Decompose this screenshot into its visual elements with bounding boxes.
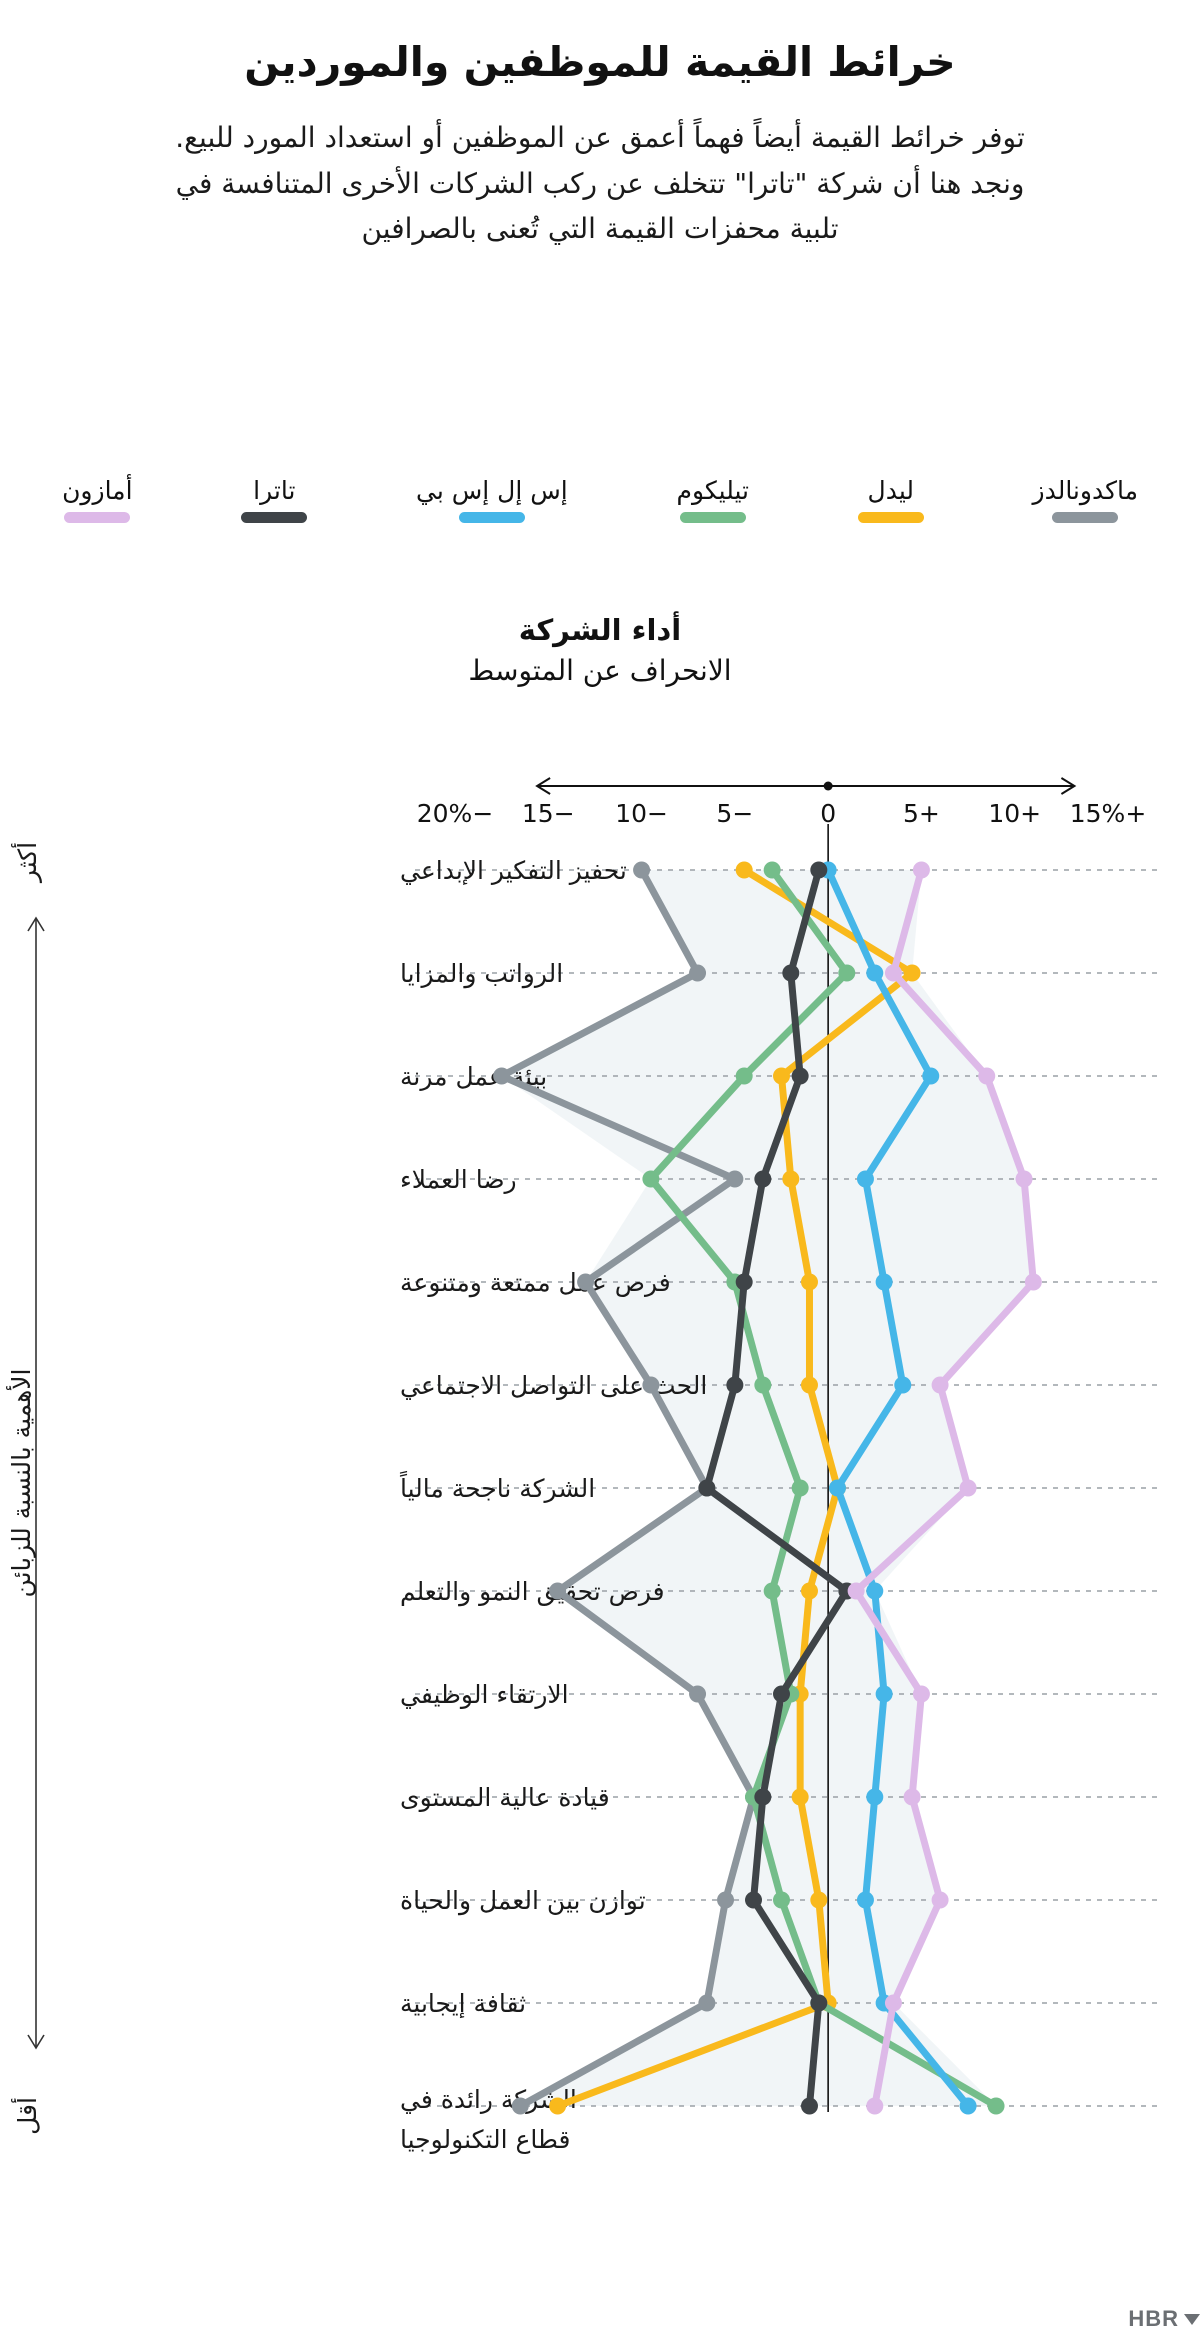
data-point[interactable] <box>904 1789 921 1806</box>
x-axis-tick-label: −15 <box>522 799 575 828</box>
category-label: الرواتب والمزايا <box>400 959 563 989</box>
data-point[interactable] <box>932 1377 949 1394</box>
data-point[interactable] <box>922 1068 939 1085</box>
data-point[interactable] <box>801 1274 818 1291</box>
data-point[interactable] <box>736 1068 753 1085</box>
data-point[interactable] <box>633 862 650 879</box>
triangle-icon <box>1184 2314 1200 2325</box>
data-point[interactable] <box>577 1274 594 1291</box>
data-point[interactable] <box>726 1171 743 1188</box>
importance-bottom-label: أقل <box>10 2097 42 2135</box>
data-point[interactable] <box>792 1789 809 1806</box>
data-point[interactable] <box>689 965 706 982</box>
data-point[interactable] <box>866 1789 883 1806</box>
legend-item[interactable]: أمازون <box>62 478 132 523</box>
category-label: الارتقاء الوظيفي <box>400 1680 569 1709</box>
category-label: ثقافة إيجابية <box>400 1989 526 2019</box>
legend-item[interactable]: ماكدونالدز <box>1033 478 1139 523</box>
category-label: الشركة ناجحة مالياً <box>399 1471 595 1503</box>
hbr-logo: HBR <box>1128 2306 1200 2332</box>
chart-subtitle: الانحراف عن المتوسط <box>0 652 1200 690</box>
data-point[interactable] <box>904 965 921 982</box>
data-point[interactable] <box>764 1583 781 1600</box>
data-point[interactable] <box>960 2098 977 2115</box>
data-point[interactable] <box>754 1377 771 1394</box>
chart-plot-area: −20%−15−10−50+5+10+15%تحفيز التفكير الإب… <box>0 744 1200 2264</box>
category-label: قيادة عالية المستوى <box>400 1783 610 1812</box>
data-point[interactable] <box>866 965 883 982</box>
data-point[interactable] <box>549 2098 566 2115</box>
legend-item-label: أمازون <box>62 478 132 503</box>
data-point[interactable] <box>792 1068 809 1085</box>
data-point[interactable] <box>913 862 930 879</box>
chart-header: أداء الشركة الانحراف عن المتوسط <box>0 612 1200 690</box>
legend-item[interactable]: تاترا <box>241 478 307 523</box>
data-point[interactable] <box>988 2098 1005 2115</box>
data-point[interactable] <box>1025 1274 1042 1291</box>
data-point[interactable] <box>773 1892 790 1909</box>
data-point[interactable] <box>978 1068 995 1085</box>
legend-item-label: تاترا <box>253 478 295 503</box>
data-point[interactable] <box>810 862 827 879</box>
data-point[interactable] <box>866 2098 883 2115</box>
data-point[interactable] <box>745 1892 762 1909</box>
header: خرائط القيمة للموظفين والموردين توفر خرا… <box>0 0 1200 251</box>
data-point[interactable] <box>642 1171 659 1188</box>
chart-title: أداء الشركة <box>0 612 1200 648</box>
data-point[interactable] <box>782 965 799 982</box>
data-point[interactable] <box>736 1274 753 1291</box>
data-point[interactable] <box>782 1171 799 1188</box>
x-axis-tick-label: +15% <box>1070 799 1147 828</box>
x-axis-tick-label: +5 <box>903 799 940 828</box>
data-point[interactable] <box>549 1583 566 1600</box>
data-point[interactable] <box>885 1995 902 2012</box>
legend-color-swatch <box>680 512 746 523</box>
data-point[interactable] <box>689 1686 706 1703</box>
data-point[interactable] <box>876 1274 893 1291</box>
category-label: قطاع التكنولوجيا <box>400 2125 570 2154</box>
data-point[interactable] <box>717 1892 734 1909</box>
data-point[interactable] <box>801 1583 818 1600</box>
legend-color-swatch <box>1052 512 1118 523</box>
data-point[interactable] <box>801 2098 818 2115</box>
legend-color-swatch <box>459 512 525 523</box>
importance-top-label: أكثر <box>10 842 42 884</box>
category-label: رضا العملاء <box>400 1165 517 1194</box>
axis-arrow <box>537 778 1074 794</box>
legend-color-swatch <box>241 512 307 523</box>
y-axis-label: الأهمية بالنسبة للزبائن <box>5 1369 36 1598</box>
hbr-logo-text: HBR <box>1128 2306 1179 2332</box>
data-point[interactable] <box>932 1892 949 1909</box>
page-deck: توفر خرائط القيمة أيضاً فهماً أعمق عن ال… <box>160 115 1040 251</box>
value-map-chart: −20%−15−10−50+5+10+15%تحفيز التفكير الإب… <box>0 744 1200 2264</box>
infographic-root: خرائط القيمة للموظفين والموردين توفر خرا… <box>0 0 1200 2350</box>
data-point[interactable] <box>885 965 902 982</box>
data-point[interactable] <box>754 1171 771 1188</box>
legend-item-label: تيليكوم <box>676 478 749 503</box>
data-point[interactable] <box>810 1995 827 2012</box>
data-point[interactable] <box>857 1892 874 1909</box>
data-point[interactable] <box>726 1377 743 1394</box>
x-axis-tick-label: −10 <box>615 799 668 828</box>
legend-color-swatch <box>64 512 130 523</box>
data-point[interactable] <box>773 1686 790 1703</box>
legend-item[interactable]: إس إل إس بي <box>416 478 568 523</box>
data-point[interactable] <box>876 1686 893 1703</box>
data-point[interactable] <box>698 1480 715 1497</box>
data-point[interactable] <box>960 1480 977 1497</box>
x-axis-tick-label: +10 <box>988 799 1041 828</box>
data-point[interactable] <box>1016 1171 1033 1188</box>
data-point[interactable] <box>698 1995 715 2012</box>
data-point[interactable] <box>838 965 855 982</box>
data-point[interactable] <box>764 862 781 879</box>
data-point[interactable] <box>512 2098 529 2115</box>
category-label: الحث على التواصل الاجتماعي <box>400 1371 707 1400</box>
data-point[interactable] <box>801 1377 818 1394</box>
legend-item[interactable]: تيليكوم <box>676 478 749 523</box>
chart-legend: ماكدونالدزليدلتيليكومإس إل إس بيتاتراأما… <box>62 478 1138 523</box>
footer: HBR <box>0 2306 1200 2332</box>
data-point[interactable] <box>736 862 753 879</box>
page-title: خرائط القيمة للموظفين والموردين <box>100 36 1100 89</box>
data-point[interactable] <box>754 1789 771 1806</box>
data-point[interactable] <box>857 1171 874 1188</box>
legend-color-swatch <box>858 512 924 523</box>
data-point[interactable] <box>642 1377 659 1394</box>
data-point[interactable] <box>829 1480 846 1497</box>
data-point[interactable] <box>792 1480 809 1497</box>
x-axis-tick-label: −20% <box>417 799 494 828</box>
data-point[interactable] <box>913 1686 930 1703</box>
data-point[interactable] <box>810 1892 827 1909</box>
legend-item-label: إس إل إس بي <box>416 478 568 503</box>
category-label: توازن بين العمل والحياة <box>400 1886 646 1916</box>
category-label: تحفيز التفكير الإبداعي <box>400 856 627 885</box>
legend-item[interactable]: ليدل <box>858 478 924 523</box>
data-point[interactable] <box>773 1068 790 1085</box>
legend-item-label: ماكدونالدز <box>1033 478 1139 503</box>
data-point[interactable] <box>894 1377 911 1394</box>
category-label: فرص تحقيق النمو والتعلم <box>400 1577 665 1607</box>
data-point[interactable] <box>493 1068 510 1085</box>
x-axis-tick-label: 0 <box>820 799 836 828</box>
data-point[interactable] <box>848 1583 865 1600</box>
data-point[interactable] <box>866 1583 883 1600</box>
x-axis-tick-label: −5 <box>716 799 753 828</box>
legend-item-label: ليدل <box>868 478 914 503</box>
category-label: فرص عمل ممتعة ومتنوعة <box>400 1268 671 1298</box>
